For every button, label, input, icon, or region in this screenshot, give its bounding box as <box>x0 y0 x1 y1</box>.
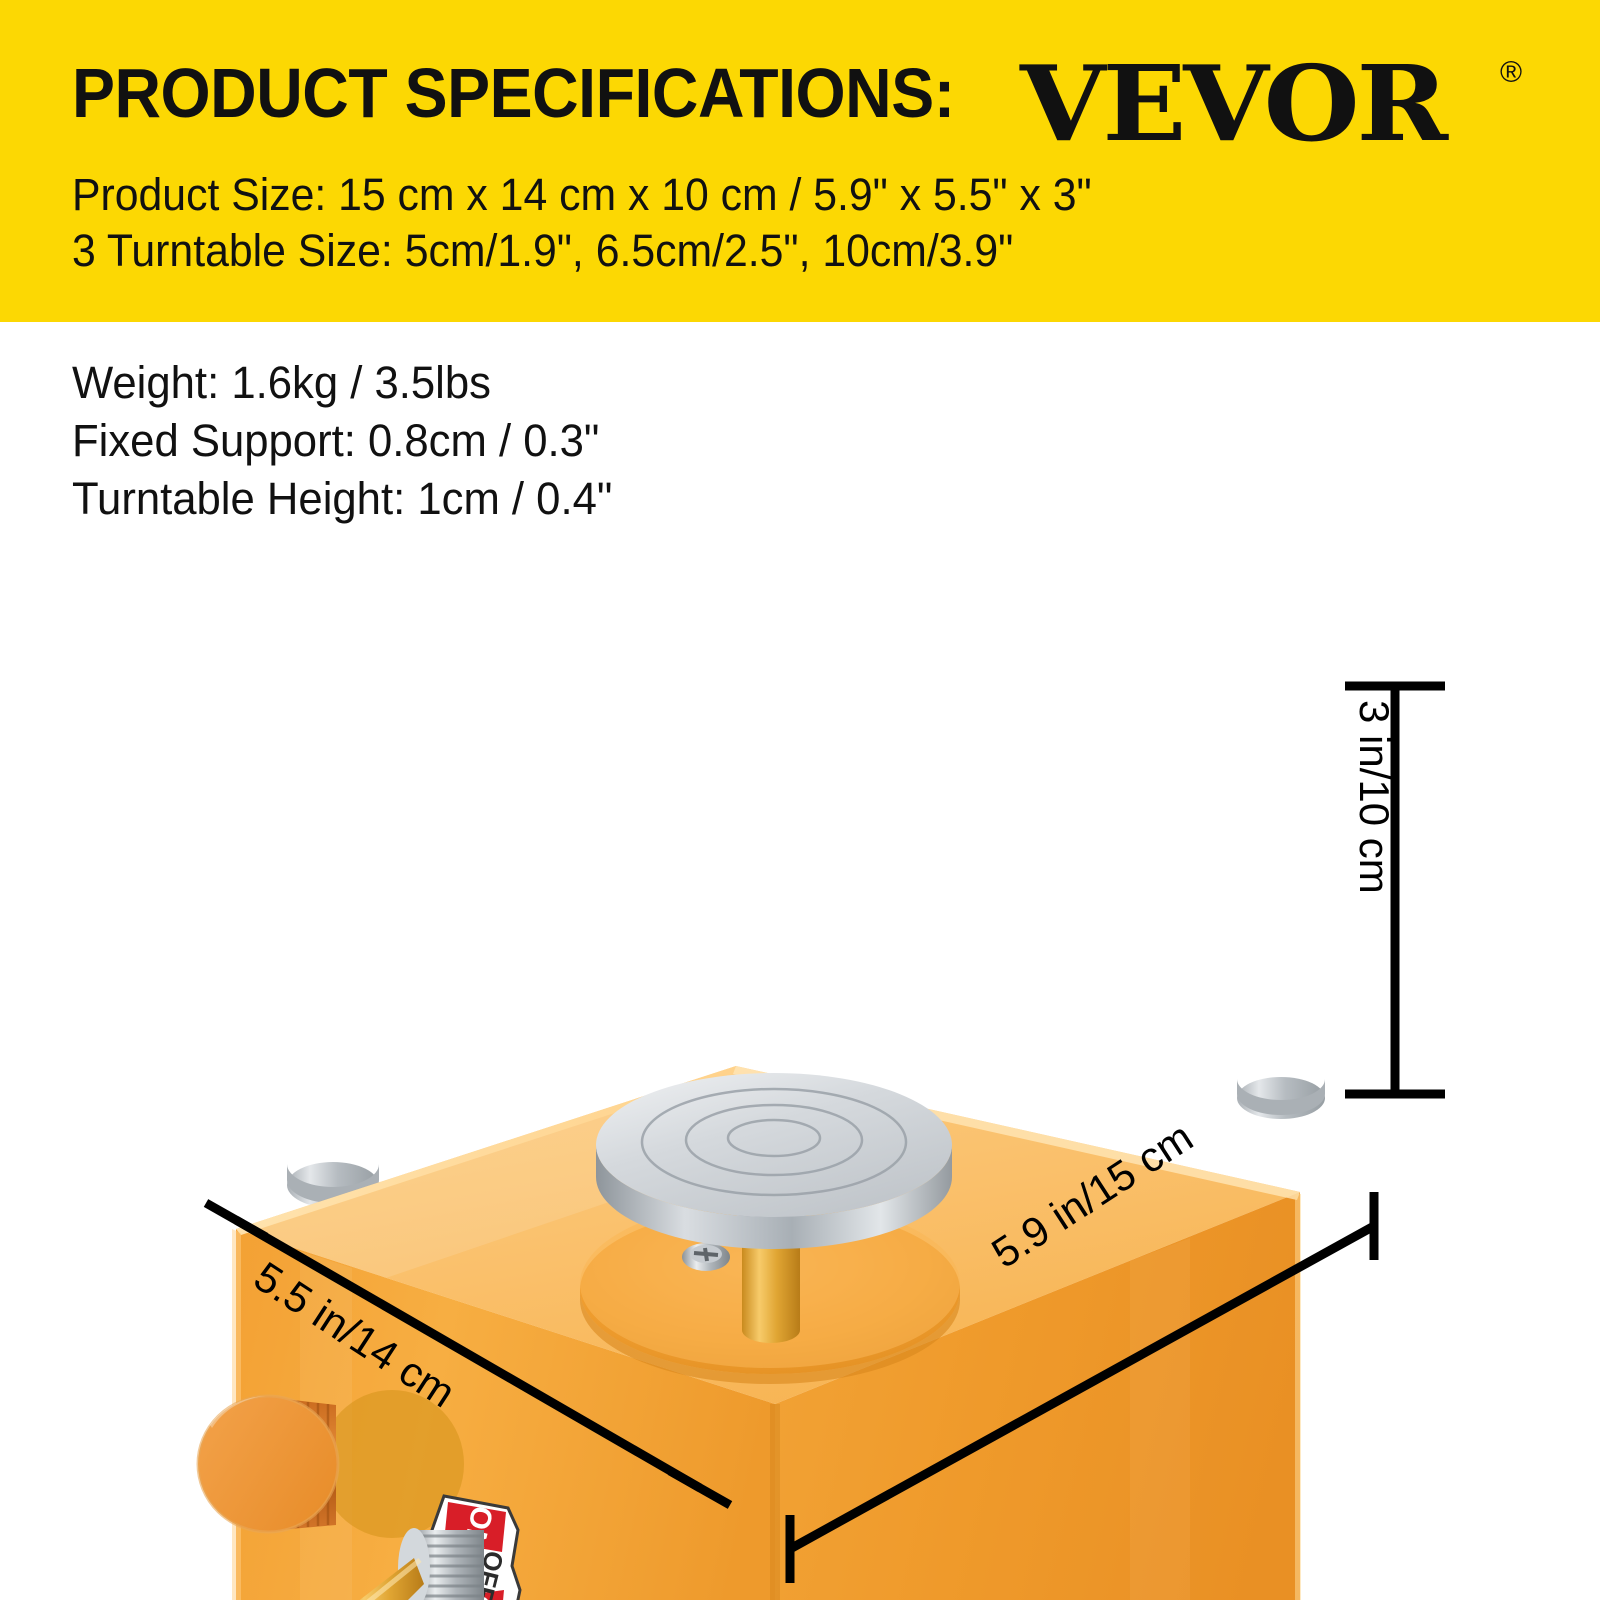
foot-right <box>1237 1077 1325 1119</box>
detail-spec-turntable-height: Turntable Height: 1cm / 0.4" <box>72 476 612 521</box>
banner-spec-turntable-size: 3 Turntable Size: 5cm/1.9", 6.5cm/2.5", … <box>72 228 1013 273</box>
product-illustration: ON ON OFF <box>0 520 1600 1600</box>
banner-spec-product-size: Product Size: 15 cm x 14 cm x 10 cm / 5.… <box>72 172 1092 217</box>
spec-header-banner: PRODUCT SPECIFICATIONS: VEVOR ® Product … <box>0 0 1600 322</box>
vevor-logo: VEVOR ® <box>1020 52 1421 156</box>
registered-trademark-icon: ® <box>1500 58 1522 88</box>
product-drawing: ON ON OFF <box>0 520 1600 1600</box>
turntable-plate <box>596 1073 952 1249</box>
page-title: PRODUCT SPECIFICATIONS: <box>72 58 955 128</box>
brand-wordmark: VEVOR <box>1020 52 1445 156</box>
detail-spec-fixed-support: Fixed Support: 0.8cm / 0.3" <box>72 418 599 463</box>
set-screw <box>682 1243 730 1271</box>
speed-control-knob[interactable] <box>198 1390 464 1538</box>
detail-spec-weight: Weight: 1.6kg / 3.5lbs <box>72 360 491 405</box>
dimension-label-height: 3 in/10 cm <box>1353 700 1395 894</box>
